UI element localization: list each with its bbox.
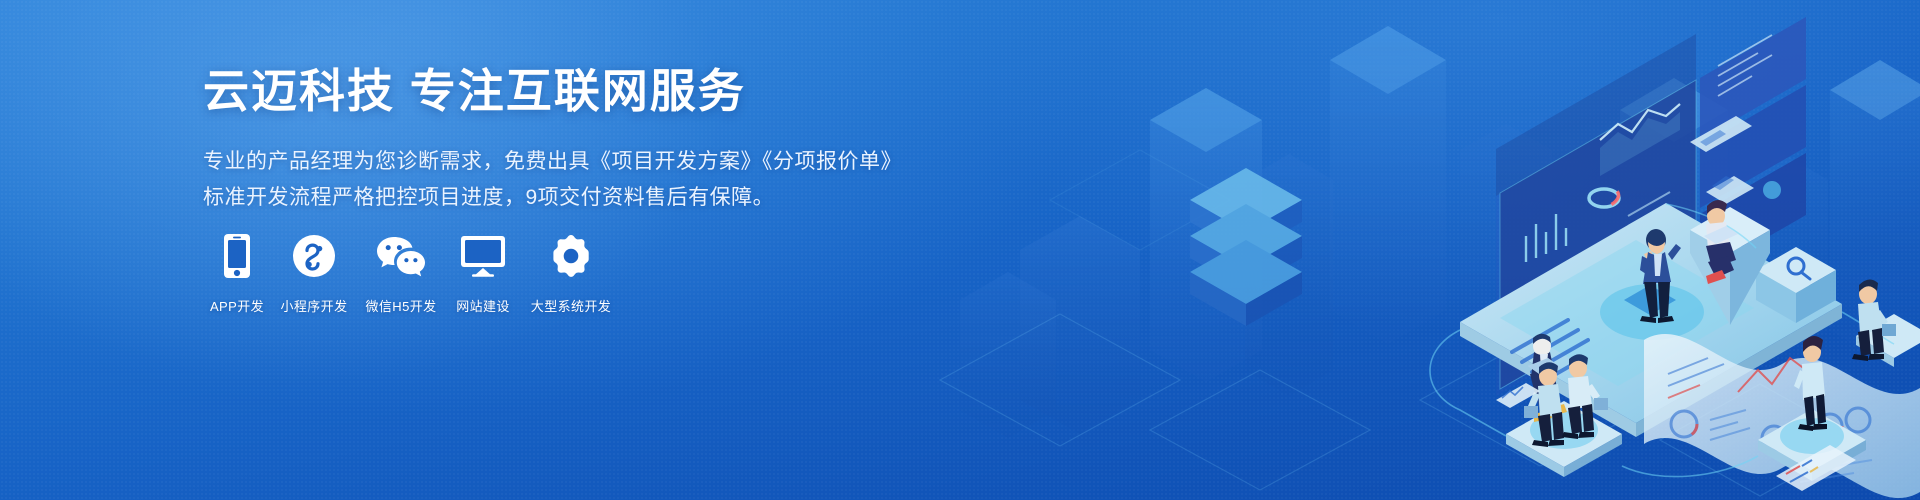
service-item-large-system[interactable]: 大型系统开发 bbox=[521, 232, 621, 315]
chat-bubble-icon bbox=[1690, 116, 1752, 152]
page-title: 云迈科技 专注互联网服务 bbox=[203, 66, 903, 118]
connector-lines bbox=[1430, 204, 1894, 477]
service-item-website[interactable]: 网站建设 bbox=[445, 232, 521, 315]
code-card bbox=[1776, 445, 1856, 491]
gear-icon bbox=[549, 232, 593, 280]
service-item-wechat-h5[interactable]: 微信H5开发 bbox=[357, 232, 445, 315]
person-walking-with-briefcase bbox=[1852, 279, 1896, 361]
data-report-sheet bbox=[1644, 334, 1920, 498]
woman-on-block-with-laptop bbox=[1704, 176, 1754, 284]
service-label: 大型系统开发 bbox=[531, 296, 611, 315]
banner-subline-1: 专业的产品经理为您诊断需求，免费出具《项目开发方案》《分项报价单》 bbox=[203, 144, 903, 180]
standing-person-pointing bbox=[1640, 229, 1681, 323]
isometric-city-buildings bbox=[960, 26, 1920, 438]
service-label: 小程序开发 bbox=[280, 296, 347, 315]
seated-person-laptop bbox=[1528, 334, 1567, 422]
service-label: 网站建设 bbox=[456, 296, 510, 315]
wechat-icon bbox=[375, 232, 427, 280]
service-item-app[interactable]: APP开发 bbox=[203, 232, 271, 315]
server-stack bbox=[1190, 168, 1302, 326]
platform-gear bbox=[1856, 314, 1920, 367]
block-pillar bbox=[1690, 207, 1770, 325]
mini-chart-card bbox=[1496, 383, 1540, 408]
banner-subline-2: 标准开发流程严格把控项目进度，9项交付资料售后有保障。 bbox=[203, 180, 903, 216]
tablet-platform bbox=[1460, 203, 1842, 437]
magnifier-cube bbox=[1756, 247, 1836, 323]
service-item-mini-program[interactable]: 小程序开发 bbox=[271, 232, 357, 315]
banner-copy: 云迈科技 专注互联网服务 专业的产品经理为您诊断需求，免费出具《项目开发方案》《… bbox=[203, 66, 903, 216]
mobile-phone-icon bbox=[222, 232, 252, 280]
platform-right bbox=[1758, 409, 1866, 481]
platform-left bbox=[1506, 401, 1622, 477]
service-label: APP开发 bbox=[210, 296, 264, 315]
desktop-monitor-icon bbox=[460, 232, 506, 280]
isometric-tech-illustration bbox=[900, 0, 1920, 500]
dashboard-screen bbox=[1496, 17, 1806, 396]
hero-banner: 云迈科技 专注互联网服务 专业的产品经理为您诊断需求，免费出具《项目开发方案》《… bbox=[0, 0, 1920, 500]
ground-grid bbox=[940, 150, 1860, 496]
service-list: APP开发 小程序开发 bbox=[203, 232, 621, 315]
two-people-with-briefcases bbox=[1524, 354, 1608, 447]
service-label: 微信H5开发 bbox=[365, 296, 436, 315]
woman-on-tablet-platform bbox=[1794, 336, 1827, 431]
mini-program-icon bbox=[292, 232, 336, 280]
